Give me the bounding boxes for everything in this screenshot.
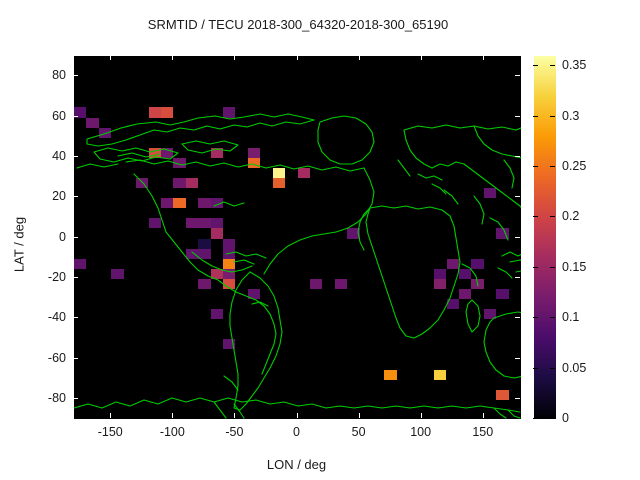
y-tick-right	[515, 196, 520, 197]
y-tick	[73, 317, 78, 318]
colorbar-tick-label: 0.15	[562, 260, 586, 274]
x-tick-label: -100	[160, 425, 185, 439]
y-tick-label: 40	[18, 149, 66, 163]
x-tick-label: 100	[410, 425, 431, 439]
plot-figure: SRMTID / TECU 2018-300_64320-2018-300_65…	[0, 0, 640, 480]
colorbar-tick-label: 0.2	[562, 209, 579, 223]
y-tick-right	[515, 277, 520, 278]
y-tick	[73, 277, 78, 278]
colorbar-tick-label: 0.35	[562, 58, 586, 72]
colorbar-tick	[550, 166, 555, 167]
colorbar-tick	[550, 418, 555, 419]
colorbar-tick-label: 0.25	[562, 159, 586, 173]
y-tick-right	[515, 358, 520, 359]
y-tick	[73, 116, 78, 117]
x-tick-label: 50	[352, 425, 366, 439]
x-tick-label: 0	[293, 425, 300, 439]
x-tick-label: -50	[225, 425, 243, 439]
colorbar-ticks	[533, 55, 555, 418]
colorbar-tick	[533, 116, 538, 117]
colorbar-tick-label: 0.3	[562, 109, 579, 123]
y-tick	[73, 75, 78, 76]
y-tick-label: 80	[18, 68, 66, 82]
colorbar-tick	[533, 166, 538, 167]
y-tick-label: -80	[18, 391, 66, 405]
y-tick-label: -60	[18, 351, 66, 365]
colorbar-tick	[550, 65, 555, 66]
colorbar-tick	[533, 216, 538, 217]
x-tick-label: -150	[98, 425, 123, 439]
y-tick	[73, 237, 78, 238]
colorbar-tick	[550, 216, 555, 217]
y-tick	[73, 398, 78, 399]
colorbar-tick	[533, 368, 538, 369]
y-tick-right	[515, 398, 520, 399]
y-tick-right	[515, 237, 520, 238]
x-tick-label: 150	[472, 425, 493, 439]
y-tick-right	[515, 116, 520, 117]
y-tick	[73, 358, 78, 359]
colorbar-tick	[533, 418, 538, 419]
y-tick-label: -40	[18, 310, 66, 324]
colorbar-tick	[550, 116, 555, 117]
y-tick-right	[515, 156, 520, 157]
y-tick-right	[515, 317, 520, 318]
y-tick-label: 60	[18, 109, 66, 123]
colorbar-tick	[550, 368, 555, 369]
colorbar-tick	[550, 317, 555, 318]
colorbar-tick	[533, 65, 538, 66]
colorbar-tick-label: 0	[562, 411, 569, 425]
colorbar-tick-label: 0.05	[562, 361, 586, 375]
chart-title: SRMTID / TECU 2018-300_64320-2018-300_65…	[0, 17, 596, 32]
colorbar-tick	[550, 267, 555, 268]
y-tick	[73, 196, 78, 197]
x-axis-title: LON / deg	[73, 457, 520, 472]
y-tick	[73, 156, 78, 157]
colorbar-tick	[533, 317, 538, 318]
colorbar-tick-label: 0.1	[562, 310, 579, 324]
y-tick-right	[515, 75, 520, 76]
y-axis-title: LAT / deg	[12, 185, 27, 305]
y-axis-ticks	[73, 55, 520, 418]
colorbar-tick	[533, 267, 538, 268]
